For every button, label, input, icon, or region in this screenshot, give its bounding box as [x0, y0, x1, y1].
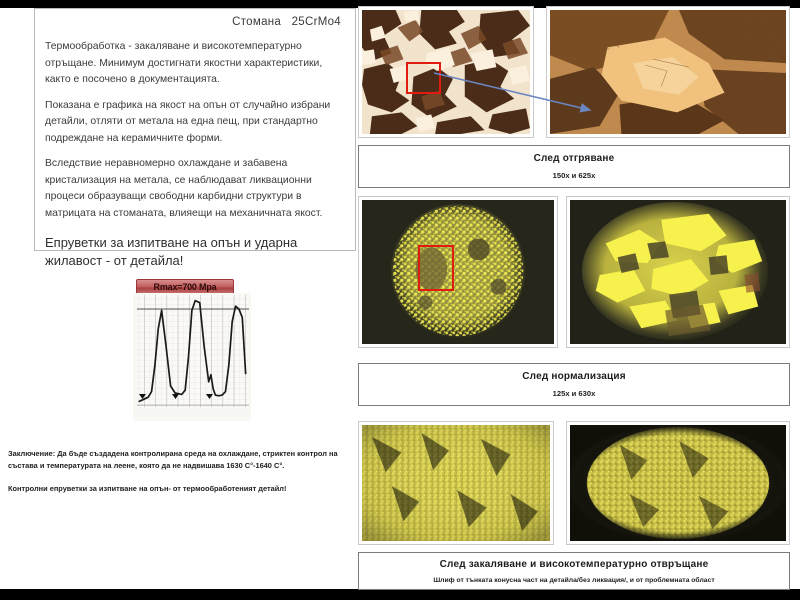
slide-root: Стомана 25CrMo4 Термообработка - закаляв… — [0, 0, 800, 600]
micrograph-quenched-problem-svg — [570, 425, 786, 541]
caption-after-tempering-magnification: 150х и 625х — [553, 171, 596, 180]
roi-red-rectangle-normalized — [418, 245, 454, 291]
paragraph-segregation: Вследствие неравномерно охлаждане и заба… — [45, 156, 345, 222]
conclusion-line-2: Контролни епруветки за изпитване на опън… — [8, 483, 356, 495]
caption-after-tempering: След отгряване 150х и 625х — [358, 145, 790, 188]
caption-after-normalization-magnification: 125х и 630х — [553, 389, 596, 398]
tensile-strength-chart: Rmax=700 Mpa — [126, 277, 254, 425]
micrograph-normalized-overview-svg — [362, 200, 554, 344]
caption-after-quenching-note: Шлиф от тънката конусна част на детайла/… — [433, 577, 714, 584]
micrograph-etched-overview-image — [362, 10, 530, 134]
caption-after-normalization: След нормализация 125х и 630х — [358, 363, 790, 406]
micrograph-quenched-problem[interactable] — [566, 421, 790, 545]
roi-red-rectangle-etched — [406, 62, 441, 94]
caption-after-quenching-title: След закаляване и високотемпературно отв… — [440, 559, 709, 570]
micrograph-etched-overview-svg — [362, 10, 530, 134]
micrograph-normalized-detail[interactable] — [566, 196, 790, 348]
micrograph-normalized-overview-image — [362, 200, 554, 344]
micrograph-normalized-detail-image — [570, 200, 786, 344]
paragraph-graph-description: Показана е графика на якост на опън от с… — [45, 98, 345, 148]
conclusion-line-1: Заключение: Да бъде създадена контролира… — [8, 448, 356, 471]
micrograph-etched-detail-svg — [550, 10, 786, 134]
description-card: Стомана 25CrMo4 Термообработка - закаляв… — [34, 8, 356, 251]
bottom-black-bar — [0, 589, 800, 600]
micrograph-etched-detail-image — [550, 10, 786, 134]
chart-svg — [133, 293, 251, 421]
caption-after-quenching: След закаляване и високотемпературно отв… — [358, 552, 790, 590]
micrograph-normalized-detail-svg — [570, 200, 786, 344]
chart-plot-area — [133, 293, 251, 421]
caption-after-tempering-title: След отгряване — [534, 153, 615, 164]
caption-after-normalization-title: След нормализация — [522, 371, 626, 382]
paragraph-heat-treatment: Термообработка - закаляване и високотемп… — [45, 39, 345, 89]
micrograph-quenched-cone-image — [362, 425, 550, 541]
micrograph-etched-detail[interactable] — [546, 6, 790, 138]
micrograph-quenched-cone-svg — [362, 425, 550, 541]
micrograph-quenched-cone[interactable] — [358, 421, 554, 545]
micrograph-quenched-problem-image — [570, 425, 786, 541]
micrograph-etched-overview[interactable] — [358, 6, 534, 138]
headline-test-specimens: Епруветки за изпитване на опън и ударна … — [45, 234, 345, 270]
steel-grade-label: Стомана 25CrMo4 — [45, 16, 341, 28]
conclusion-block: Заключение: Да бъде създадена контролира… — [8, 448, 356, 507]
micrograph-normalized-overview[interactable] — [358, 196, 558, 348]
